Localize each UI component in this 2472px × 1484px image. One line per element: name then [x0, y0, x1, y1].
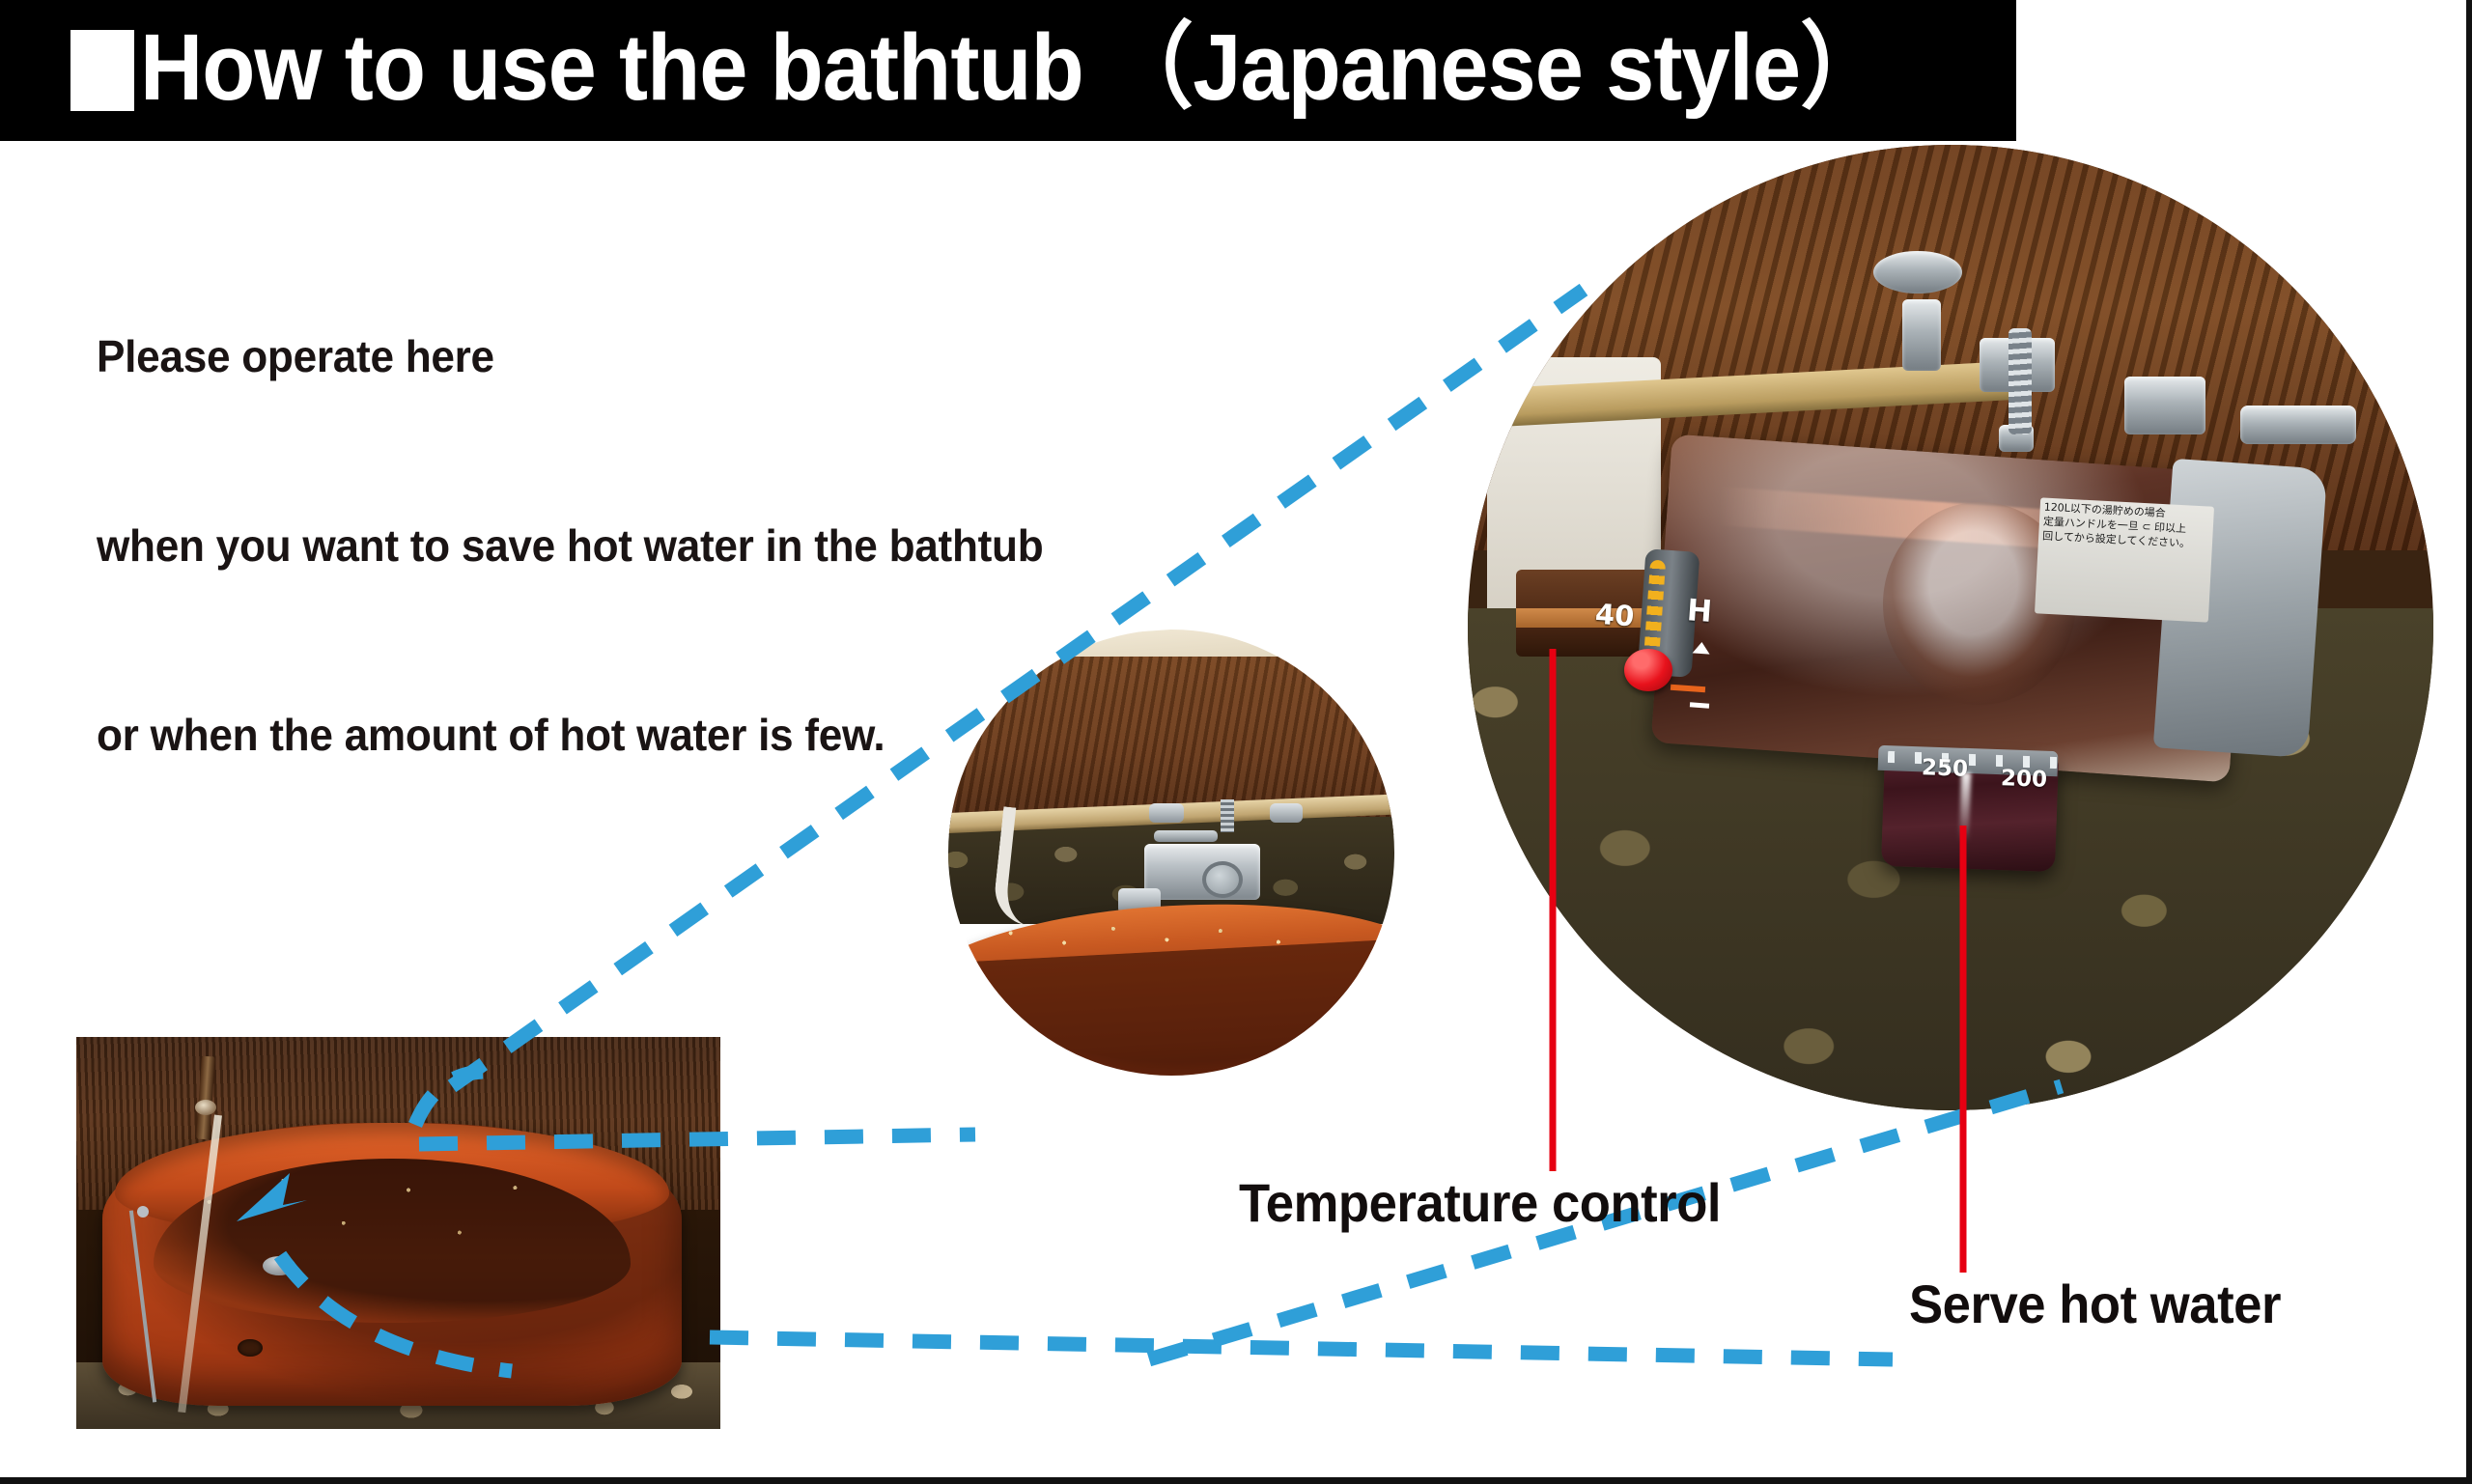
instruction-line-2: when you want to save hot water in the b…: [97, 515, 1043, 577]
callout-temperature-control: Temperature control: [1239, 1171, 1721, 1234]
bolt-cap-top-left: [1873, 251, 1962, 294]
instruction-text: Please operate here when you want to sav…: [97, 199, 1043, 892]
page-title: How to use the bathtub （Japanese style）: [140, 20, 1886, 122]
coil-spring: [1221, 799, 1234, 832]
faucet-arm: [1154, 830, 1218, 842]
up-triangle-icon: [1693, 641, 1711, 654]
faucet-valve-body: [1144, 844, 1260, 900]
hex-nut-right: [2124, 377, 2205, 434]
red-safety-button[interactable]: [1624, 649, 1672, 691]
faucet-cap-right: [1270, 803, 1303, 823]
bathtub-wide-photo: [76, 1037, 720, 1429]
callout-serve-hot-water: Serve hot water: [1909, 1273, 2281, 1335]
instruction-line-1: Please operate here: [97, 325, 1043, 388]
japanese-warning-label: 120L以下の湯貯めの場合 定量ハンドルを一旦 ⊂ 印以上 回してから設定してく…: [2035, 497, 2214, 622]
dashed-leader-lower: [710, 1337, 1893, 1359]
poster-page: How to use the bathtub （Japanese style） …: [0, 0, 2472, 1484]
faucet-cap-left: [1149, 803, 1184, 823]
faucet-closeup-photo: 120L以下の湯貯めの場合 定量ハンドルを一旦 ⊂ 印以上 回してから設定してく…: [1468, 145, 2433, 1110]
volume-value-200: 200: [2001, 766, 2048, 793]
drain-hole: [238, 1339, 263, 1357]
faucet-medium-photo: [948, 630, 1394, 1076]
temperature-value-40: 40: [1594, 598, 1636, 633]
rod-knob: [137, 1206, 149, 1218]
filled-square-bullet-icon: [70, 30, 134, 111]
bathtub-speckles: [154, 1155, 617, 1273]
flexible-conduit: [2008, 328, 2032, 434]
title-bar: How to use the bathtub （Japanese style）: [0, 0, 2016, 141]
bolt-shaft-left: [1902, 299, 1941, 371]
mounting-bracket-right: [2240, 406, 2356, 444]
instruction-line-3: or when the amount of hot water is few.: [97, 704, 1043, 767]
rim-speckles: [948, 915, 1394, 960]
temperature-hot-letter: H: [1686, 593, 1713, 630]
water-spout-opening: [195, 1100, 216, 1115]
